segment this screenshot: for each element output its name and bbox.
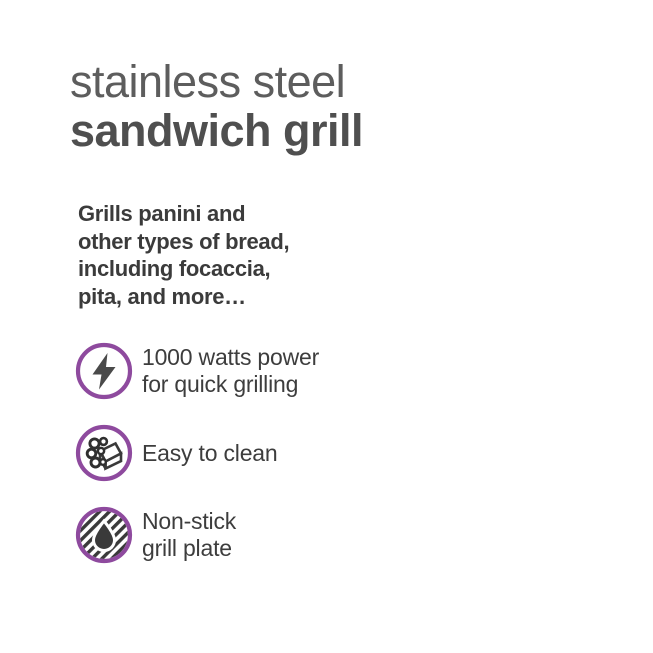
feature-label-clean-line1: Easy to clean [142, 440, 277, 467]
product-feature-infographic: stainless steel sandwich grill Grills pa… [0, 0, 653, 653]
feature-label-power-line1: 1000 watts power [142, 344, 319, 371]
title-line-secondary: sandwich grill [70, 106, 363, 155]
intro-line-4: pita, and more… [78, 283, 289, 311]
feature-label-power: 1000 watts power for quick grilling [142, 344, 319, 398]
title-line-primary: stainless steel [70, 57, 363, 106]
intro-line-1: Grills panini and [78, 200, 289, 228]
feature-label-nonstick-line2: grill plate [142, 535, 236, 562]
feature-label-power-line2: for quick grilling [142, 371, 319, 398]
feature-item-power: 1000 watts power for quick grilling [74, 340, 594, 402]
feature-label-nonstick: Non-stick grill plate [142, 508, 236, 562]
feature-item-clean: Easy to clean [74, 422, 594, 484]
intro-paragraph: Grills panini and other types of bread, … [78, 200, 289, 310]
sponge-bubbles-icon [74, 423, 134, 483]
intro-line-2: other types of bread, [78, 228, 289, 256]
feature-label-clean: Easy to clean [142, 440, 277, 467]
feature-label-nonstick-line1: Non-stick [142, 508, 236, 535]
intro-line-3: including focaccia, [78, 255, 289, 283]
lightning-bolt-icon [74, 341, 134, 401]
feature-list: 1000 watts power for quick grilling [74, 340, 594, 586]
feature-item-nonstick: Non-stick grill plate [74, 504, 594, 566]
non-stick-droplet-icon [74, 505, 134, 565]
page-title: stainless steel sandwich grill [70, 57, 363, 155]
